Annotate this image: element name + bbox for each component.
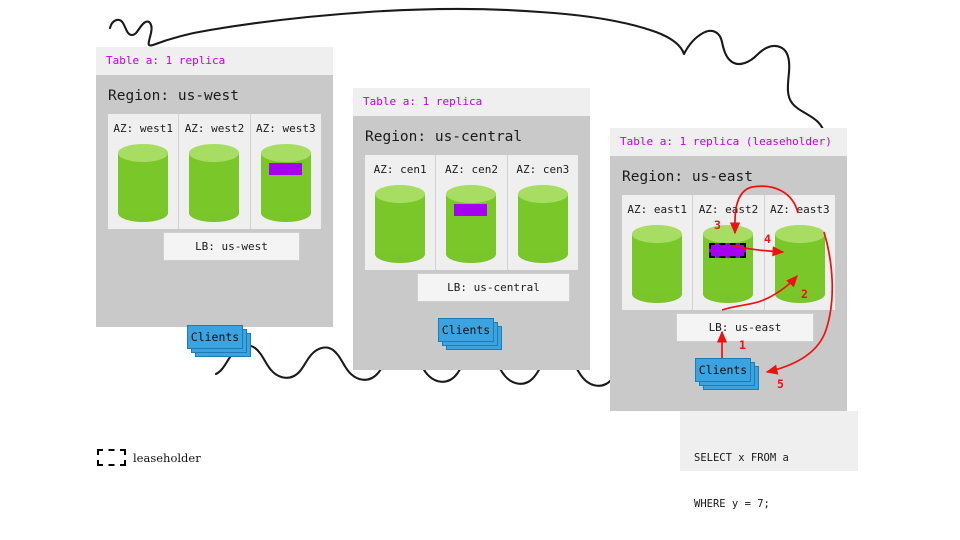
step-number-1: 1 <box>739 338 746 352</box>
sql-line-1: SELECT x FROM a <box>694 451 846 466</box>
step-number-2: 2 <box>801 287 808 301</box>
az-label-east2: AZ: east2 <box>693 203 763 216</box>
panel-header-us-west: Table a: 1 replica <box>96 47 333 75</box>
cylinder-top <box>518 185 568 203</box>
node-cylinder-east2[interactable] <box>703 225 753 303</box>
az-cell-west3[interactable]: AZ: west3 <box>251 114 321 229</box>
cylinder-top <box>375 185 425 203</box>
node-cylinder-west1[interactable] <box>118 144 168 222</box>
clients-label-us-central: Clients <box>438 318 494 342</box>
cylinder-body <box>518 194 568 254</box>
az-cell-east3[interactable]: AZ: east3 <box>765 195 835 310</box>
region-title-us-west: Region: us-west <box>96 75 333 114</box>
az-label-west3: AZ: west3 <box>251 122 321 135</box>
cylinder-body <box>261 153 311 213</box>
az-cell-cen2[interactable]: AZ: cen2 <box>436 155 507 270</box>
cylinder-body <box>775 234 825 294</box>
cylinder-body <box>375 194 425 254</box>
step-number-4: 4 <box>764 232 771 246</box>
replica-block-west3[interactable] <box>269 163 302 175</box>
node-cylinder-west2[interactable] <box>189 144 239 222</box>
az-cell-cen3[interactable]: AZ: cen3 <box>508 155 578 270</box>
region-panel-us-east: Table a: 1 replica (leaseholder) Region:… <box>610 128 847 411</box>
az-label-east3: AZ: east3 <box>765 203 835 216</box>
cylinder-top <box>118 144 168 162</box>
az-rack-us-west: AZ: west1 AZ: west2 <box>108 114 321 229</box>
sql-query-box: SELECT x FROM a WHERE y = 7; <box>680 411 858 471</box>
region-title-us-east: Region: us-east <box>610 156 847 195</box>
az-rack-us-central: AZ: cen1 AZ: cen2 <box>365 155 578 270</box>
cylinder-body <box>446 194 496 254</box>
node-cylinder-east1[interactable] <box>632 225 682 303</box>
diagram-canvas: Table a: 1 replica Region: us-west AZ: w… <box>0 0 960 540</box>
az-cell-west1[interactable]: AZ: west1 <box>108 114 179 229</box>
az-cell-east2[interactable]: AZ: east2 <box>693 195 764 310</box>
cylinder-top <box>261 144 311 162</box>
node-cylinder-west3[interactable] <box>261 144 311 222</box>
az-cell-east1[interactable]: AZ: east1 <box>622 195 693 310</box>
load-balancer-us-west[interactable]: LB: us-west <box>163 232 300 261</box>
clients-label-us-west: Clients <box>187 325 243 349</box>
region-title-us-central: Region: us-central <box>353 116 590 155</box>
replica-block-east2-leaseholder[interactable] <box>709 243 746 258</box>
region-panel-us-central: Table a: 1 replica Region: us-central AZ… <box>353 88 590 370</box>
clients-stack-us-west[interactable]: Clients <box>187 325 249 355</box>
az-label-west1: AZ: west1 <box>108 122 178 135</box>
leaseholder-swatch-icon <box>97 449 126 466</box>
sql-line-2: WHERE y = 7; <box>694 497 846 512</box>
cylinder-top <box>775 225 825 243</box>
cylinder-body <box>632 234 682 294</box>
step-number-5: 5 <box>777 377 784 391</box>
region-panel-us-west: Table a: 1 replica Region: us-west AZ: w… <box>96 47 333 327</box>
az-cell-cen1[interactable]: AZ: cen1 <box>365 155 436 270</box>
legend-label: leaseholder <box>133 451 201 465</box>
az-label-cen2: AZ: cen2 <box>436 163 506 176</box>
node-cylinder-east3[interactable] <box>775 225 825 303</box>
load-balancer-us-central[interactable]: LB: us-central <box>417 273 570 302</box>
panel-header-us-east: Table a: 1 replica (leaseholder) <box>610 128 847 156</box>
cylinder-body <box>189 153 239 213</box>
clients-stack-us-central[interactable]: Clients <box>438 318 500 348</box>
clients-stack-us-east[interactable]: Clients <box>695 358 757 388</box>
step-number-3: 3 <box>714 218 721 232</box>
panel-header-us-central: Table a: 1 replica <box>353 88 590 116</box>
node-cylinder-cen3[interactable] <box>518 185 568 263</box>
clients-label-us-east: Clients <box>695 358 751 382</box>
az-label-cen1: AZ: cen1 <box>365 163 435 176</box>
az-label-east1: AZ: east1 <box>622 203 692 216</box>
cylinder-body <box>118 153 168 213</box>
legend-leaseholder: leaseholder <box>97 449 201 466</box>
replica-block-cen2[interactable] <box>454 204 487 216</box>
az-label-west2: AZ: west2 <box>179 122 249 135</box>
az-cell-west2[interactable]: AZ: west2 <box>179 114 250 229</box>
node-cylinder-cen1[interactable] <box>375 185 425 263</box>
node-cylinder-cen2[interactable] <box>446 185 496 263</box>
az-label-cen3: AZ: cen3 <box>508 163 578 176</box>
cylinder-top <box>632 225 682 243</box>
